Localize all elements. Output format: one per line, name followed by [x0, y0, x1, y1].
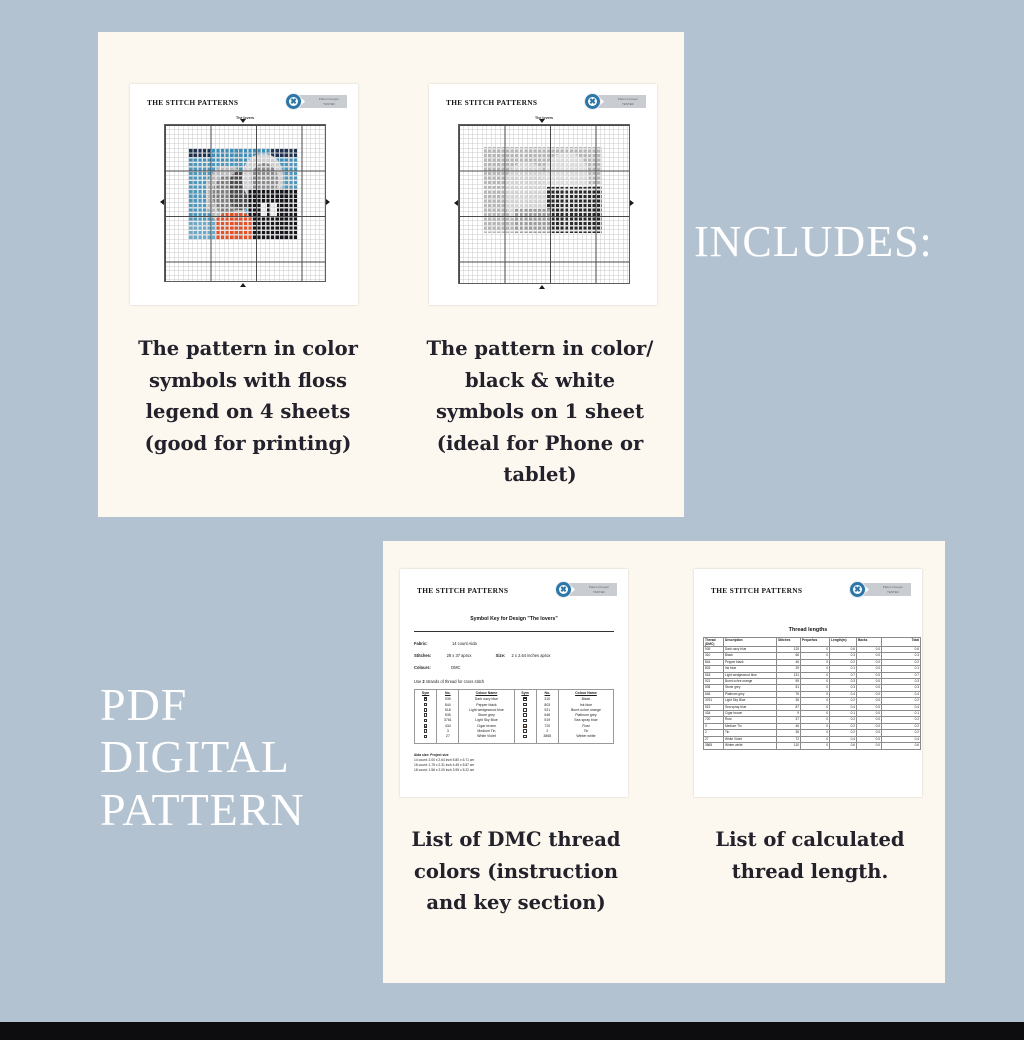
- table-cell: 110: [777, 743, 801, 749]
- thread-lengths-title: Thread lengths: [694, 627, 922, 633]
- table-header-cell: Thread(DMC): [704, 638, 724, 647]
- pdf-line-2: DIGITAL: [100, 731, 305, 783]
- badge-seal-icon: ✖: [849, 581, 866, 598]
- key-table-header: Colour Name: [559, 690, 613, 697]
- spec-stitches: Stitches: 28 x 37 aprox Size: 2 x 2.64 i…: [414, 653, 550, 658]
- table-header-cell: Description: [724, 638, 777, 647]
- chart-tick-bottom-icon: [539, 285, 545, 289]
- chart-tick-right-icon: [326, 199, 330, 205]
- key-table-header: Sym: [415, 690, 436, 697]
- pdf-line-3: PATTERN: [100, 784, 305, 836]
- pattern-keeper-badge: Pattern Keeper TESTED ✖: [584, 93, 646, 110]
- bw-chart-grid: [458, 124, 630, 284]
- badge-seal-icon: ✖: [285, 93, 302, 110]
- sheet-brand-title: THE STITCH PATTERNS: [711, 586, 802, 595]
- caption-dmc-list: List of DMC thread colors (instruction a…: [400, 824, 632, 919]
- key-column: SymNo.31080392164651972023865Colour Name…: [515, 690, 614, 743]
- spec-colours-label: Colours:: [414, 665, 431, 670]
- sheet-bw-symbols[interactable]: THE STITCH PATTERNS Pattern Keeper TESTE…: [429, 84, 657, 305]
- badge-ribbon-line2: TESTED: [613, 102, 643, 106]
- key-dmc-number: 27: [437, 734, 458, 739]
- aida-size-line-1: 14 count: 2.00 x 2.64 inch 5.80 x 6.71 c…: [414, 758, 474, 762]
- chart-tick-bottom-icon: [240, 283, 246, 287]
- key-table-header: No.: [437, 690, 458, 697]
- pattern-keeper-badge: Pattern Keeper TESTED ✖: [285, 93, 347, 110]
- spec-colours-value: DMC: [451, 665, 460, 670]
- table-header-cell: Stitches: [777, 638, 801, 647]
- aida-size-line-3: 18 count: 1.56 x 2.00 inch 3.95 x 5.22 c…: [414, 768, 474, 772]
- sheet-brand-title: THE STITCH PATTERNS: [417, 586, 508, 595]
- spec-stitches-label: Stitches:: [414, 653, 431, 658]
- table-header-cell: Total: [882, 638, 921, 647]
- table-cell: 0.6: [882, 743, 921, 749]
- sheet-symbol-key[interactable]: THE STITCH PATTERNS Pattern Keeper TESTE…: [400, 569, 628, 797]
- aida-size-title: Aida size: Project size: [414, 753, 449, 757]
- badge-ribbon-line2: TESTED: [314, 102, 344, 106]
- spec-stitches-value: 28 x 37 aprox: [447, 653, 472, 658]
- spec-fabric-value: 14 count Aida: [452, 641, 477, 646]
- table-row: 3865Winter white11000.60.00.6: [704, 743, 921, 749]
- strands-note: Use 2 strands of thread for cross stitch: [414, 679, 484, 684]
- table-header-cell: Pequeños: [801, 638, 830, 647]
- sheet-brand-title: THE STITCH PATTERNS: [147, 98, 238, 107]
- caption-bw-symbols: The pattern in color/ black & white symb…: [418, 333, 662, 491]
- key-colour-name: White Violet: [459, 734, 513, 739]
- badge-x-glyph: ✖: [853, 585, 863, 595]
- table-header-cell: Length(m): [830, 638, 857, 647]
- key-table-header: No.: [537, 690, 558, 697]
- badge-seal-icon: ✖: [555, 581, 572, 598]
- badge-x-glyph: ✖: [289, 97, 299, 107]
- spec-size-value: 2 x 2.64 inches aprox: [512, 653, 551, 658]
- pdf-line-1: PDF: [100, 679, 305, 731]
- bold-grid-lines: [165, 125, 325, 281]
- table-cell: 3865: [704, 743, 724, 749]
- chart-tick-top-icon: [240, 119, 246, 123]
- strands-note-post: strands of thread for cross stitch: [425, 679, 484, 684]
- key-symbol-swatch: [515, 734, 536, 739]
- poster-root: THE STITCH PATTERNS Pattern Keeper TESTE…: [0, 0, 1024, 1040]
- thread-lengths-table: Thread(DMC)DescriptionStitchesPequeñosLe…: [703, 637, 921, 750]
- key-column: SymNo.9398445185353761434327Colour NameD…: [415, 690, 515, 743]
- spec-size-label: Size:: [496, 653, 506, 658]
- chart-tick-left-icon: [454, 200, 458, 206]
- table-header-cell: Backs: [857, 638, 882, 647]
- table-cell: Winter white: [724, 743, 777, 749]
- spec-fabric-label: Fabric:: [414, 641, 428, 646]
- badge-ribbon-line2: TESTED: [584, 590, 614, 594]
- key-divider: [414, 631, 614, 632]
- badge-ribbon-line1: Pattern Keeper: [878, 585, 908, 589]
- pattern-keeper-badge: Pattern Keeper TESTED ✖: [849, 581, 911, 598]
- sheet-color-symbols[interactable]: THE STITCH PATTERNS Pattern Keeper TESTE…: [130, 84, 358, 305]
- badge-ribbon-line1: Pattern Keeper: [584, 585, 614, 589]
- color-chart-grid: [164, 124, 326, 282]
- sheet-brand-title: THE STITCH PATTERNS: [446, 98, 537, 107]
- badge-x-glyph: ✖: [588, 97, 598, 107]
- spec-colours: Colours: DMC: [414, 665, 460, 670]
- table-cell: 0.0: [857, 743, 882, 749]
- symbol-key-table: SymNo.9398445185353761434327Colour NameD…: [414, 689, 614, 744]
- key-table-header: Sym: [515, 690, 536, 697]
- bottom-black-strip: [0, 1022, 1024, 1040]
- badge-ribbon-line1: Pattern Keeper: [314, 97, 344, 101]
- badge-ribbon-line1: Pattern Keeper: [613, 97, 643, 101]
- bold-grid-lines: [459, 125, 629, 283]
- symbol-key-heading: Symbol Key for Design "The lovers": [400, 616, 628, 622]
- bw-chart: The lovers: [458, 116, 630, 292]
- caption-color-symbols: The pattern in color symbols with floss …: [128, 333, 368, 459]
- pdf-digital-pattern-heading: PDF DIGITAL PATTERN: [100, 679, 305, 836]
- spec-fabric: Fabric: 14 count Aida: [414, 641, 477, 646]
- chart-tick-top-icon: [539, 119, 545, 123]
- badge-x-glyph: ✖: [559, 585, 569, 595]
- badge-seal-icon: ✖: [584, 93, 601, 110]
- aida-size-footer: Aida size: Project size 14 count: 2.00 x…: [414, 753, 474, 773]
- key-dmc-number: 3865: [537, 734, 558, 739]
- key-symbol-swatch: [415, 734, 436, 739]
- table-cell: 0.6: [830, 743, 857, 749]
- chart-tick-right-icon: [630, 200, 634, 206]
- key-colour-name: Winter white: [559, 734, 613, 739]
- table-header-row: Thread(DMC)DescriptionStitchesPequeñosLe…: [704, 638, 921, 647]
- sheet-thread-lengths[interactable]: THE STITCH PATTERNS Pattern Keeper TESTE…: [694, 569, 922, 797]
- chart-tick-left-icon: [160, 199, 164, 205]
- pattern-keeper-badge: Pattern Keeper TESTED ✖: [555, 581, 617, 598]
- includes-heading: INCLUDES:: [694, 216, 933, 267]
- key-table-header: Colour Name: [459, 690, 513, 697]
- caption-thread-length: List of calculated thread length.: [690, 824, 930, 887]
- badge-ribbon-line2: TESTED: [878, 590, 908, 594]
- table-cell: 0: [801, 743, 830, 749]
- aida-size-line-2: 16 count: 1.75 x 2.31 inch 4.45 x 5.87 c…: [414, 763, 474, 767]
- color-chart: The lovers: [164, 116, 326, 290]
